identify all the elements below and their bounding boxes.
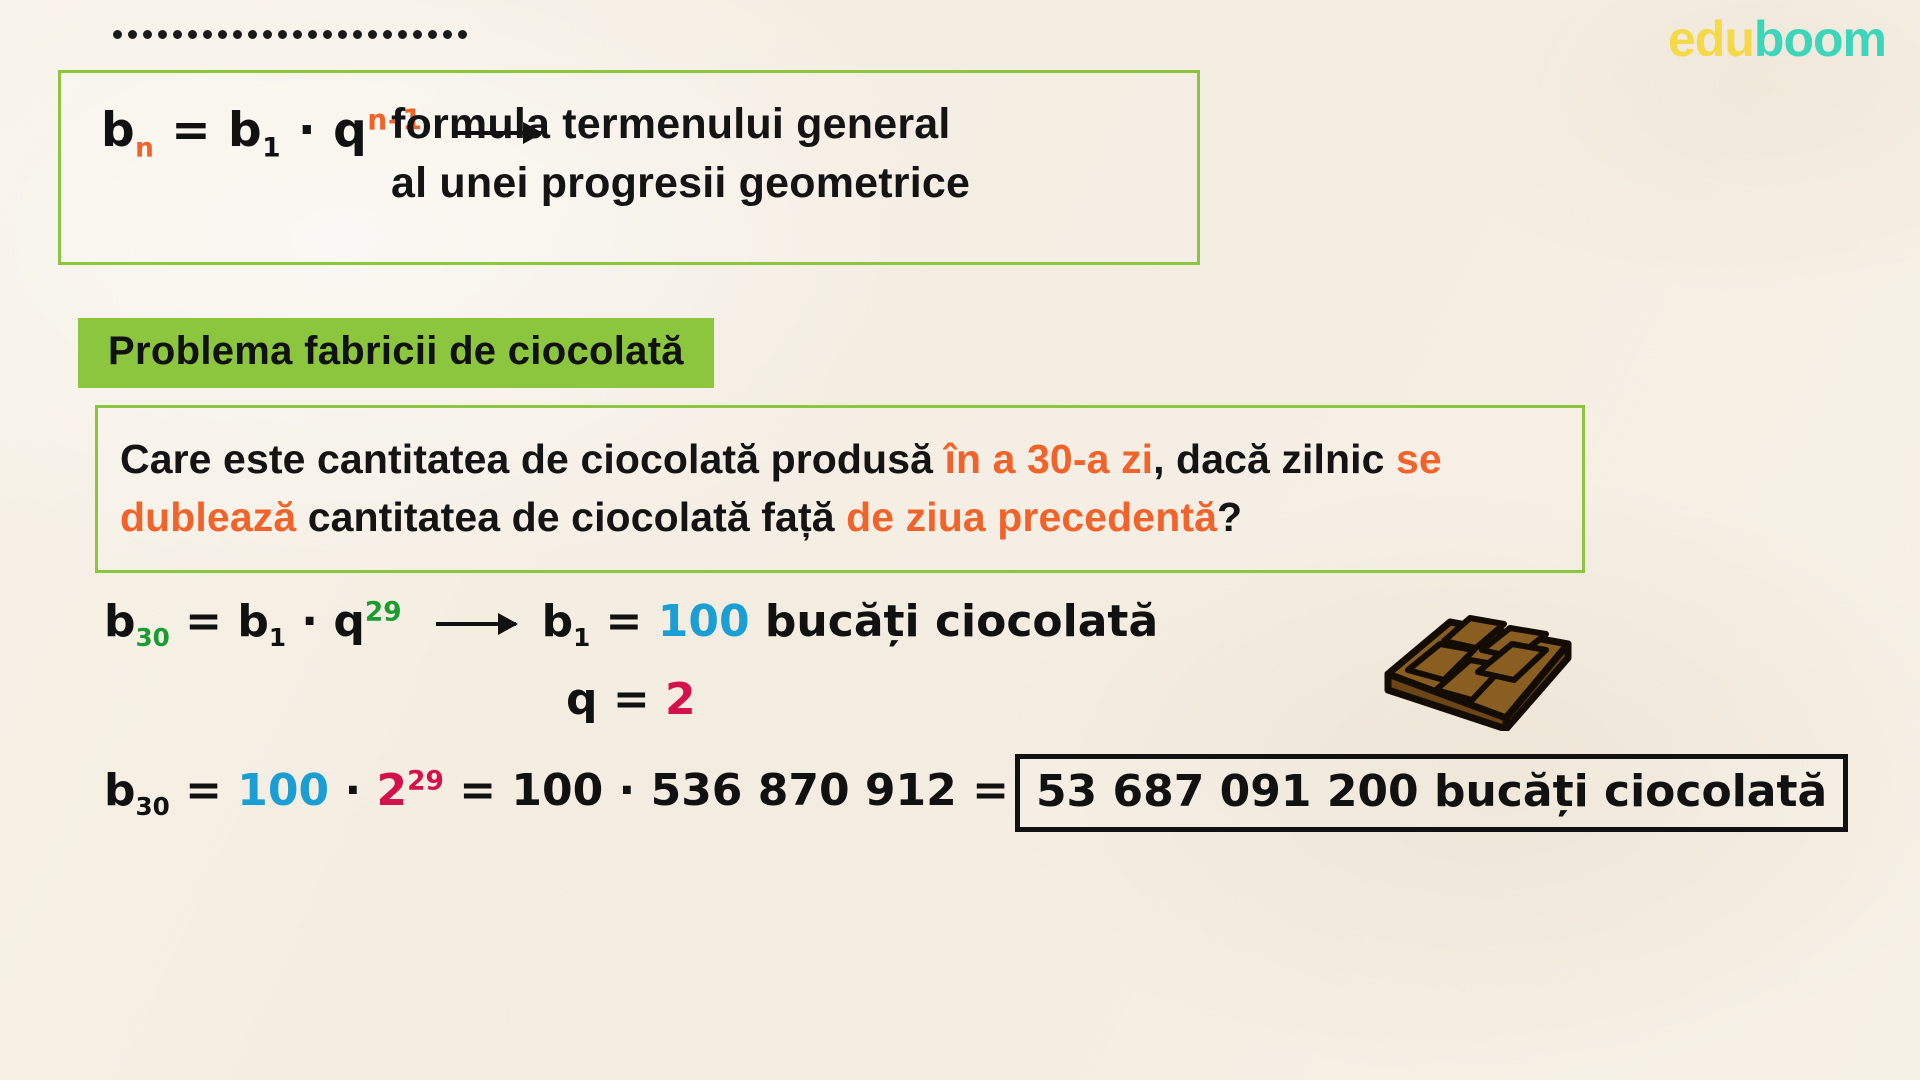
decorative-dot: [293, 30, 302, 39]
decorative-dot: [263, 30, 272, 39]
logo-text-edu: edu: [1668, 11, 1754, 67]
decorative-dot: [383, 30, 392, 39]
decorative-dot: [218, 30, 227, 39]
decorative-dot: [188, 30, 197, 39]
general-term-formula: bn = b1 · qn–1: [101, 103, 423, 163]
final-answer-box: 53 687 091 200 bucăți ciocolată: [1015, 754, 1848, 832]
right-arrow-icon-2: [436, 622, 516, 626]
decorative-dot: [458, 30, 467, 39]
formula-description-line-1: formula termenului general: [391, 95, 970, 154]
question-box: Care este cantitatea de ciocolată produs…: [95, 405, 1585, 573]
question-accent-day-30: în a 30-a zi: [945, 436, 1154, 482]
question-segment-4: ?: [1217, 494, 1242, 540]
decorative-dot: [338, 30, 347, 39]
decorative-dot: [428, 30, 437, 39]
decorative-dot: [173, 30, 182, 39]
question-segment-1: Care este cantitatea de ciocolată produs…: [120, 436, 945, 482]
decorative-dot: [203, 30, 212, 39]
decorative-dot: [278, 30, 287, 39]
decorative-dot: [233, 30, 242, 39]
decorative-dot: [443, 30, 452, 39]
given-b1: b1 = 100 bucăți ciocolată: [542, 596, 1159, 652]
chocolate-bar-icon: [1378, 586, 1578, 731]
slide-canvas: eduboom bn = b1 · qn–1 formula termenulu…: [0, 0, 1920, 1080]
final-answer-value: 53 687 091 200: [1036, 766, 1419, 817]
general-term-formula-box: bn = b1 · qn–1 formula termenului genera…: [58, 70, 1200, 265]
final-answer-unit: bucăți ciocolată: [1419, 766, 1828, 817]
decorative-dot: [353, 30, 362, 39]
question-text: Care este cantitatea de ciocolată produs…: [120, 430, 1568, 546]
question-segment-2: , dacă zilnic: [1153, 436, 1396, 482]
decorative-dot: [158, 30, 167, 39]
question-accent-previous-day: de ziua precedentă: [846, 494, 1217, 540]
logo-text-boom: boom: [1754, 11, 1886, 67]
given-q: q = 2: [566, 674, 696, 725]
decorative-dot: [413, 30, 422, 39]
solution-line-1: b30 = b1 · q29 b1 = 100 bucăți ciocolată: [104, 596, 1158, 652]
decorative-dot: [143, 30, 152, 39]
decorative-dot: [368, 30, 377, 39]
final-computation: b30 = 100 · 229 = 100 · 536 870 912 =: [104, 765, 1009, 821]
decorative-dot: [308, 30, 317, 39]
solution-final-line: b30 = 100 · 229 = 100 · 536 870 912 = 53…: [104, 754, 1848, 832]
decorative-dot: [398, 30, 407, 39]
b30-formula: b30 = b1 · q29: [104, 596, 402, 652]
decorative-dot: [128, 30, 137, 39]
problem-title-banner: Problema fabricii de ciocolată: [78, 318, 714, 388]
question-segment-3: cantitatea de ciocolată față: [296, 494, 846, 540]
formula-description: formula termenului general al unei progr…: [391, 95, 970, 214]
decorative-dot: [113, 30, 122, 39]
eduboom-logo: eduboom: [1668, 14, 1886, 64]
decorative-dot: [323, 30, 332, 39]
formula-description-line-2: al unei progresii geometrice: [391, 154, 970, 213]
decorative-dot: [248, 30, 257, 39]
dotted-decoration: [113, 30, 467, 39]
